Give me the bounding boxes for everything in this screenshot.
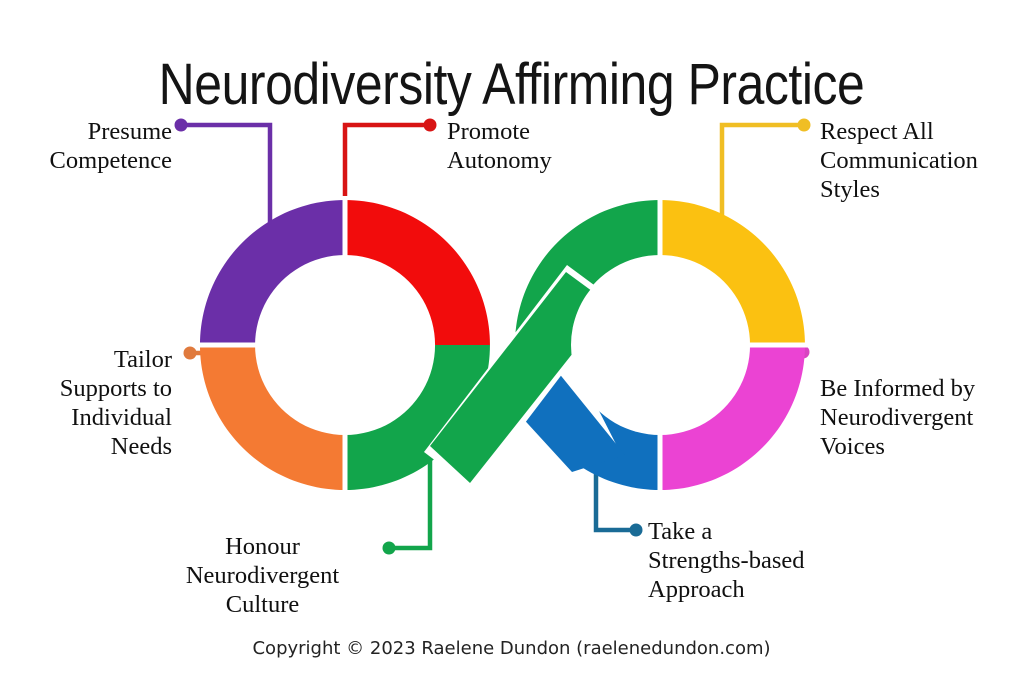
label-respect-all-communication-styles: Respect All Communication Styles	[820, 117, 1023, 204]
segment-tailor-supports	[195, 345, 345, 495]
segment-be-informed-by-neurodivergent-voices	[660, 345, 810, 495]
connector-be-informed-by-neurodivergent-voices	[780, 346, 810, 359]
label-be-informed-by-neurodivergent-voices: Be Informed by Neurodivergent Voices	[820, 374, 1023, 461]
crossing-band-green	[424, 265, 617, 490]
segment-promote-autonomy	[345, 195, 495, 345]
connector-respect-communication-styles	[722, 119, 811, 233]
infinity-left-loop	[195, 195, 495, 495]
infinity-right-loop	[510, 195, 810, 495]
segment-honour-culture-left-arc	[345, 345, 495, 495]
right-loop-hole	[571, 256, 749, 434]
crossing-band-blue	[505, 305, 625, 472]
infographic-page: Neurodiversity Affirming Practice	[0, 0, 1023, 675]
copyright-notice: Copyright © 2023 Raelene Dundon (raelene…	[0, 638, 1023, 659]
label-promote-autonomy: Promote Autonomy	[447, 117, 677, 175]
segment-separators	[196, 196, 808, 494]
connector-honour-neurodivergent-culture	[383, 452, 431, 555]
page-title: Neurodiversity Affirming Practice	[72, 51, 952, 119]
segment-take-a-strengths-based-approach	[510, 345, 660, 495]
left-loop-hole	[256, 256, 434, 434]
connector-take-a-strengths-based-approach	[596, 470, 643, 537]
label-tailor-supports-to-individual-needs: Tailor Supports to Individual Needs	[0, 345, 172, 461]
connector-tailor-supports	[184, 347, 216, 360]
segment-respect-communication-styles	[660, 195, 810, 345]
label-presume-competence: Presume Competence	[0, 117, 172, 175]
label-take-a-strengths-based-approach: Take a Strengths-based Approach	[648, 517, 878, 604]
segment-honour-culture-right-arc	[510, 195, 660, 345]
segment-presume-competence	[195, 195, 345, 345]
label-honour-neurodivergent-culture: Honour Neurodivergent Culture	[160, 532, 365, 619]
connector-promote-autonomy	[345, 119, 437, 211]
connector-presume-competence	[175, 119, 271, 233]
